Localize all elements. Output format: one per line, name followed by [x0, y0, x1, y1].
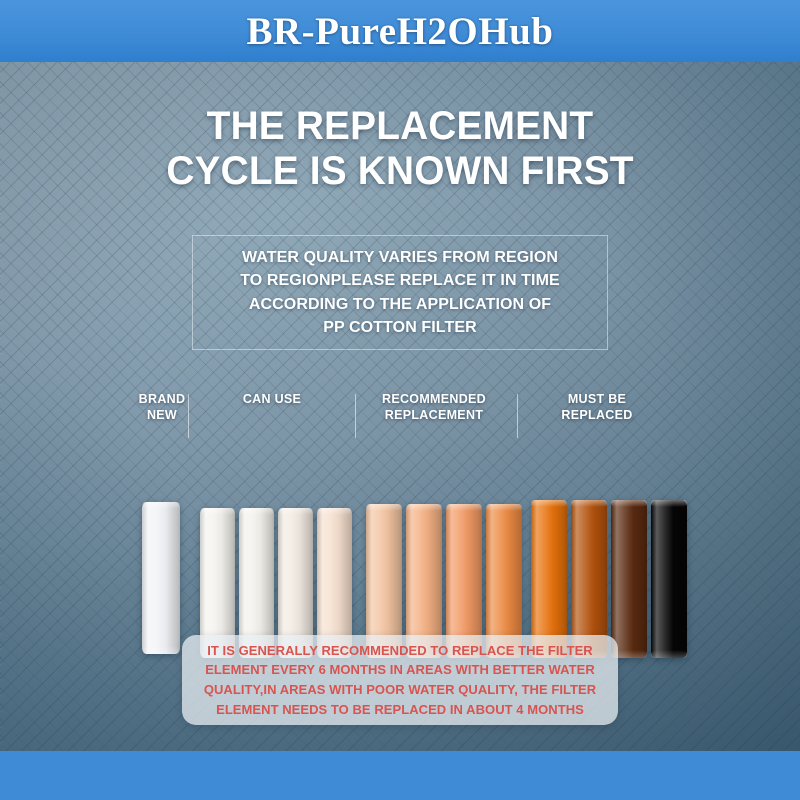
note-line-3: QUALITY,IN AREAS WITH POOR WATER QUALITY…: [204, 680, 596, 700]
note-line-1: IT IS GENERALLY RECOMMENDED TO REPLACE T…: [204, 641, 596, 661]
legend-label-line-2: NEW: [147, 408, 177, 424]
cartridge-shading: [142, 502, 180, 654]
cartridge-1: [142, 502, 180, 654]
note-line-4: ELEMENT NEEDS TO BE REPLACED IN ABOUT 4 …: [204, 700, 596, 720]
poster-headline: THE REPLACEMENT CYCLE IS KNOWN FIRST: [12, 104, 788, 194]
bottom-banner: [0, 751, 800, 800]
cartridge-top-cap: [317, 508, 352, 515]
cartridge-13: [651, 500, 687, 658]
cartridge-bottom-cap: [651, 650, 687, 658]
cartridge-bottom-cap: [142, 646, 180, 654]
description-box: WATER QUALITY VARIES FROM REGION TO REGI…: [192, 235, 608, 350]
cartridge-top-cap: [200, 508, 235, 515]
legend-item-4: MUST BEREPLACED: [527, 392, 667, 440]
cartridge-shading: [651, 500, 687, 658]
headline-line-1: THE REPLACEMENT: [12, 104, 788, 149]
cartridge-top-cap: [239, 508, 274, 515]
description-line-3: ACCORDING TO THE APPLICATION OF: [240, 293, 560, 316]
cartridge-top-cap: [406, 504, 442, 511]
description-line-2: TO REGIONPLEASE REPLACE IT IN TIME: [240, 269, 560, 292]
stage-legend: BRANDNEWCAN USERECOMMENDEDREPLACEMENTMUS…: [128, 392, 676, 440]
legend-item-3: RECOMMENDEDREPLACEMENT: [364, 392, 504, 440]
cartridge-top-cap: [611, 500, 647, 507]
note-line-2: ELEMENT EVERY 6 MONTHS IN AREAS WITH BET…: [204, 660, 596, 680]
legend-divider-2: [355, 394, 356, 438]
cartridge-top-cap: [571, 500, 607, 507]
cartridge-top-cap: [278, 508, 313, 515]
cartridge-top-cap: [486, 504, 522, 511]
cartridge-12: [611, 500, 647, 658]
description-line-4: PP COTTON FILTER: [240, 316, 560, 339]
legend-label-line-1: BRAND: [139, 392, 186, 408]
legend-divider-1: [188, 394, 189, 438]
description-line-1: WATER QUALITY VARIES FROM REGION: [240, 246, 560, 269]
cartridge-top-cap: [651, 500, 687, 507]
headline-line-2: CYCLE IS KNOWN FIRST: [12, 149, 788, 194]
poster-graphic: THE REPLACEMENT CYCLE IS KNOWN FIRST WAT…: [0, 62, 800, 751]
legend-label-line-1: RECOMMENDED: [382, 392, 486, 408]
cartridge-top-cap: [142, 502, 180, 509]
top-banner: BR-PureH2OHub: [0, 0, 800, 62]
brand-title: BR-PureH2OHub: [247, 9, 554, 54]
legend-label-line-2: REPLACEMENT: [385, 408, 483, 424]
legend-label-line-2: REPLACED: [561, 408, 632, 424]
cartridge-top-cap: [531, 500, 567, 507]
cartridge-shading: [611, 500, 647, 658]
legend-label-line-1: MUST BE: [568, 392, 626, 408]
legend-divider-3: [517, 394, 518, 438]
legend-label-line-1: CAN USE: [243, 392, 301, 408]
legend-item-2: CAN USE: [202, 392, 342, 440]
description-text: WATER QUALITY VARIES FROM REGION TO REGI…: [234, 246, 566, 339]
replacement-note-text: IT IS GENERALLY RECOMMENDED TO REPLACE T…: [196, 641, 604, 720]
cartridge-row: [0, 442, 800, 602]
replacement-note-box: IT IS GENERALLY RECOMMENDED TO REPLACE T…: [182, 635, 618, 725]
cartridge-top-cap: [446, 504, 482, 511]
cartridge-top-cap: [366, 504, 402, 511]
